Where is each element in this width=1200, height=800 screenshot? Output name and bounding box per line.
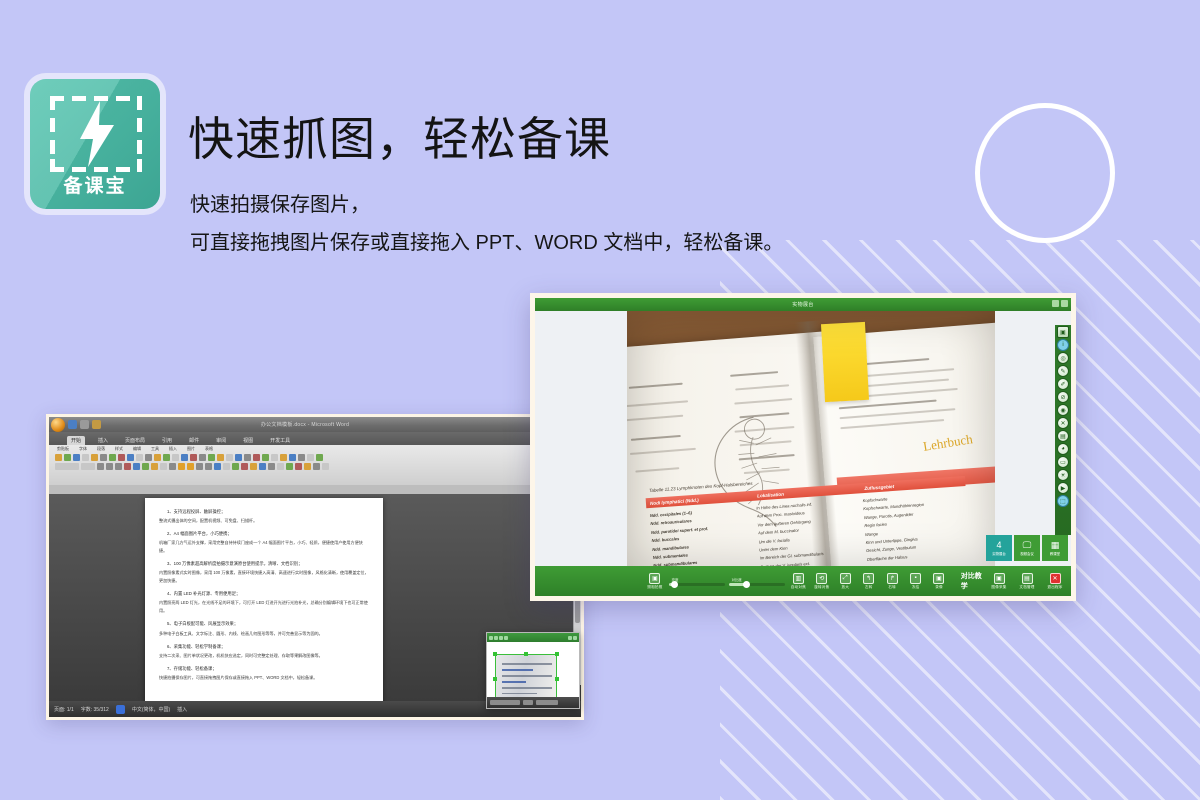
toolbar-label: 右转 (888, 585, 896, 590)
minimize-button[interactable] (1052, 300, 1059, 307)
capture-window[interactable]: 实物展台 (530, 293, 1076, 601)
office-orb-icon[interactable] (51, 418, 65, 432)
autofocus-icon: ▥ (793, 573, 804, 584)
cluster-button-conference[interactable]: 🖵 视频会议 (1014, 535, 1040, 561)
conference-icon: 🖵 (1023, 541, 1032, 550)
ribbon-group-table: 表格 (205, 446, 213, 452)
toolbar-button-doc-manage[interactable]: ▤ 文档管理 (1014, 573, 1040, 590)
toolbar-button-rotatefocus[interactable]: ⟲ 旋转对焦 (810, 573, 833, 590)
toolbar-button-rotate-right[interactable]: ↱ 右转 (880, 573, 903, 590)
mini-preview-status-bar (487, 697, 579, 708)
zoom-icon: ⤢ (840, 573, 851, 584)
cluster-label: 教课堂 (1050, 551, 1060, 556)
visualizer-icon: 4 (996, 541, 1001, 550)
toolbar-right-group[interactable]: ▣ 图像采集 ▤ 文档管理 ✕ 退出程序 (986, 573, 1071, 590)
erase-tool-icon[interactable]: ⊘ (1057, 391, 1069, 403)
rotate-right-icon: ↱ (887, 573, 898, 584)
capture-window-controls[interactable] (1052, 300, 1068, 307)
info-tool-icon[interactable]: i (1057, 339, 1069, 351)
doc-heading: 6、采集功能、轻松学制备课； (167, 643, 369, 651)
status-language: 中文(简体，中国) (132, 706, 170, 713)
cluster-button-visualizer[interactable]: 4 实物展台 (986, 535, 1012, 561)
doc-heading: 4、内置 LED 补光灯源、专用便用足； (167, 590, 369, 598)
tab-mailings[interactable]: 邮件 (185, 436, 203, 445)
anatomy-table: Tabelle 11.23 Lymphknoten des Kopf-Halsb… (646, 476, 973, 566)
ribbon-group-clipboard: 剪贴板 (57, 446, 69, 452)
toolbar-label: 自动对焦 (791, 585, 806, 590)
exit-icon: ✕ (1050, 573, 1061, 584)
doc-manage-icon: ▤ (1022, 573, 1033, 584)
selection-handle[interactable] (524, 652, 528, 656)
toolbar-button-capture[interactable]: ▣ 照相拍照 (643, 573, 666, 590)
side-tool-strip[interactable]: ▣ i ◎ ✎ ✐ ⊘ ◉ ✕ ▤ ◕ ▭ ☀ ▶ ⬚ (1055, 325, 1071, 535)
word-page[interactable]: 1、支持远程投屏、触屏操控； 整流式摄出体的空间，配置机视频、可免盘、扫描杆。 … (145, 498, 383, 701)
status-page: 页面: 1/1 (54, 706, 74, 713)
contrast-control[interactable]: 对比度 (729, 577, 785, 586)
doc-paragraph: 多种电子白板工具、文字标注、圆形、内线、绘画几何图形等等，并可完善显示等为固的。 (159, 630, 369, 638)
capture-bottom-toolbar[interactable]: 4 实物展台 🖵 视频会议 ▦ 教课堂 ▣ 照相拍照 亮度 (535, 566, 1071, 596)
word-ribbon[interactable]: 剪贴板 字体 段落 样式 编辑 工具 插入 图片 表格 (49, 445, 581, 486)
freeze-icon: ▪ (910, 573, 921, 584)
toolbar-button-freeze[interactable]: ▪ 冻结 (904, 573, 927, 590)
doc-heading: 5、电子白板配可能、风展显示效果； (167, 620, 369, 628)
play-tool-icon[interactable]: ▶ (1057, 482, 1069, 494)
table-column-3: Kopfschwarte Kopfschwarte, Mundhöhlenreg… (859, 488, 972, 566)
background-circle (975, 103, 1115, 243)
color-tool-icon[interactable]: ◕ (1057, 443, 1069, 455)
tab-developer[interactable]: 开发工具 (266, 436, 294, 445)
pen-green-tool-icon[interactable]: ✐ (1057, 378, 1069, 390)
font-name-box (55, 463, 79, 470)
toolbar-button-exit[interactable]: ✕ 退出程序 (1042, 573, 1068, 590)
toolbar-label: 放大 (841, 585, 849, 590)
ribbon-group-insert: 插入 (169, 446, 177, 452)
close-tool-icon[interactable]: ✕ (1057, 417, 1069, 429)
ribbon-buttons-row-2[interactable] (49, 461, 581, 470)
contrast-label: 对比度 (729, 577, 785, 582)
cluster-label: 视频会议 (1020, 551, 1034, 556)
status-words: 字数: 35/312 (81, 706, 109, 713)
selection-handle[interactable] (555, 677, 559, 681)
mini-preview-window[interactable] (486, 632, 580, 709)
ribbon-group-paragraph: 段落 (97, 446, 105, 452)
tab-insert-file[interactable]: 插入 (94, 436, 112, 445)
image-tool-icon[interactable]: ▤ (1057, 430, 1069, 442)
cluster-button-classroom[interactable]: ▦ 教课堂 (1042, 535, 1068, 561)
toolbar-label: 图像采集 (991, 585, 1006, 590)
classroom-icon: ▦ (1051, 541, 1060, 550)
capture-stage[interactable]: Tabelle 11.23 Lymphknoten des Kopf-Halsb… (535, 311, 1071, 566)
doc-paragraph: 支持二次采、图片单状况更改，机机快应选定，同时可完整定处理、存取等果解改图像等。 (159, 652, 369, 660)
ribbon-group-editing: 编辑 (133, 446, 141, 452)
captured-photo[interactable]: Tabelle 11.23 Lymphknoten des Kopf-Halsb… (627, 311, 995, 566)
language-indicator-icon[interactable] (116, 705, 125, 714)
mini-preview-body (487, 642, 579, 697)
mini-title-dots (489, 636, 508, 640)
subtitle-line-1: 快速拍摄保存图片， (190, 188, 370, 217)
target-tool-icon[interactable]: ◉ (1057, 404, 1069, 416)
cluster-label: 实物展台 (992, 551, 1006, 556)
ribbon-group-labels: 剪贴板 字体 段落 样式 编辑 工具 插入 图片 表格 (49, 445, 581, 452)
image-collect-icon: ▣ (994, 573, 1005, 584)
lightning-bolt-icon (76, 101, 116, 167)
ribbon-group-font: 字体 (79, 446, 87, 452)
table-column-2: In Höhe des Linea nuchalis inf. Auf dem … (753, 495, 866, 566)
word-title-bar[interactable]: 办公文档模板.docx - Microsoft Word (49, 417, 581, 432)
snapshot-tool-icon[interactable]: ▣ (1057, 326, 1069, 338)
mini-preview-title-bar[interactable] (487, 633, 579, 642)
subtitle-line-2: 可直接拖拽图片保存或直接拖入 PPT、WORD 文档中，轻松备课。 (190, 226, 783, 255)
doc-heading: 3、100 万像素超高解析度拍摄示意演原台使用提示，清晰、文档识别； (167, 560, 369, 568)
rotate-left-icon: ↰ (863, 573, 874, 584)
page-title: 快速抓图，轻松备课 (188, 103, 611, 169)
toolbar-button-zoom[interactable]: ⤢ 放大 (834, 573, 857, 590)
select-tool-icon[interactable]: ⬚ (1057, 495, 1069, 507)
doc-paragraph: 整流式摄出体的空间，配置机视频、可免盘、扫描杆。 (159, 517, 369, 525)
ribbon-group-styles: 样式 (115, 446, 123, 452)
ribbon-group-tools: 工具 (151, 446, 159, 452)
circle-tool-icon[interactable]: ◎ (1057, 352, 1069, 364)
status-mode: 插入 (177, 706, 187, 713)
tab-view[interactable]: 视图 (239, 436, 257, 445)
sticky-note (821, 322, 869, 402)
doc-heading: 1、支持远程投屏、触屏操控； (167, 508, 369, 516)
brightness-slider[interactable] (669, 583, 725, 586)
toolbar-button-image-collect[interactable]: ▣ 图像采集 (986, 573, 1012, 590)
toolbar-label: 旋转对焦 (814, 585, 829, 590)
word-ribbon-tabs[interactable]: 开始 插入 页面布局 引用 邮件 审阅 视图 开发工具 (49, 432, 581, 445)
ribbon-group-picture: 图片 (187, 446, 195, 452)
capture-title-text: 实物展台 (792, 301, 814, 308)
toolbar-label: 录像 (935, 585, 943, 590)
selection-handle[interactable] (493, 652, 497, 656)
toolbar-button-record[interactable]: ▣ 录像 (927, 573, 950, 590)
pen-red-tool-icon[interactable]: ✎ (1057, 365, 1069, 377)
doc-paragraph: 内置照亮两 LED 灯光，在光线不足的环境下，可打开 LED 灯进开光进行光拍补… (159, 599, 369, 615)
doc-paragraph: 内置照像素式实时图像，采用 100 万像素，直接环境快捷入高清、高速进行实时图像… (159, 569, 369, 585)
capture-icon: ▣ (649, 573, 660, 584)
app-icon: 备课宝 (30, 79, 160, 209)
tab-references[interactable]: 引用 (158, 436, 176, 445)
contrast-slider[interactable] (729, 583, 785, 586)
toolbar-label: 冻结 (912, 585, 920, 590)
floating-button-cluster[interactable]: 4 实物展台 🖵 视频会议 ▦ 教课堂 (986, 535, 1068, 561)
selection-handle[interactable] (493, 677, 497, 681)
toolbar-label: 文档管理 (1019, 585, 1034, 590)
brightness-label: 亮度 (669, 577, 725, 582)
tab-insert[interactable]: 页面布局 (121, 436, 149, 445)
toolbar-label: 照相拍照 (647, 585, 662, 590)
capture-title-bar[interactable]: 实物展台 (535, 298, 1071, 311)
doc-heading: 7、存储功能、轻松备课； (167, 665, 369, 673)
record-icon: ▣ (933, 573, 944, 584)
table-column-1: Ndd. occipitales (1–6) Ndd. retroauricul… (646, 503, 759, 566)
light-tool-icon[interactable]: ☀ (1057, 469, 1069, 481)
doc-paragraph: 机箱厂家几方气运外支撑，采用完整自持持续门座成一个 A4 幅面图片平台，小巧、轻… (159, 539, 369, 555)
toolbar-label: 左转 (865, 585, 873, 590)
toolbar-label: 退出程序 (1047, 585, 1062, 590)
frame-tool-icon[interactable]: ▭ (1057, 456, 1069, 468)
ribbon-buttons-row-1[interactable] (49, 452, 581, 461)
mini-window-controls[interactable] (568, 636, 577, 640)
doc-paragraph: 快捷拍摄保存图片，可直接拖拽图片保存或直接拖入 PPT、WORD 文档中，轻松备… (159, 674, 369, 682)
doc-heading: 2、A4 幅面图片平台，小巧便携； (167, 530, 369, 538)
restore-button[interactable] (1061, 300, 1068, 307)
toolbar-button-rotate-left[interactable]: ↰ 左转 (857, 573, 880, 590)
tab-review[interactable]: 审阅 (212, 436, 230, 445)
rotatefocus-icon: ⟲ (816, 573, 827, 584)
selection-handle[interactable] (555, 652, 559, 656)
save-icon[interactable] (68, 420, 77, 429)
compare-teaching-label[interactable]: 对比教学 (961, 571, 986, 591)
font-size-box (81, 463, 95, 470)
brightness-control[interactable]: 亮度 (669, 577, 725, 586)
tab-home[interactable]: 开始 (67, 436, 85, 445)
toolbar-button-autofocus[interactable]: ▥ 自动对焦 (787, 573, 810, 590)
word-title-text: 办公文档模板.docx - Microsoft Word (83, 421, 527, 428)
app-icon-caption: 备课宝 (30, 171, 160, 198)
